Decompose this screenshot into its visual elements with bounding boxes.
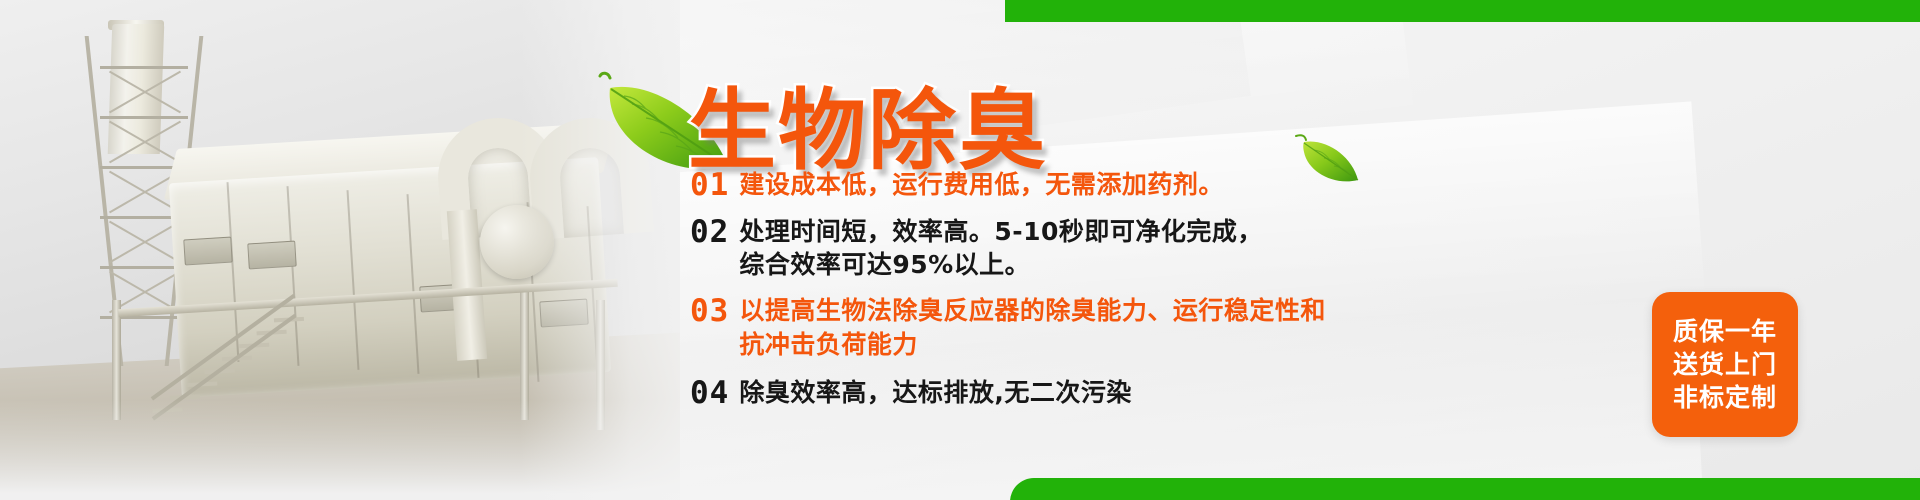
equipment-photo (0, 0, 680, 500)
feature-text-line: 综合效率可达95%以上。 (739, 248, 1263, 282)
stair-handrail (151, 294, 296, 401)
feature-text: 以提高生物法除臭反应器的除臭能力、运行稳定性和 抗冲击负荷能力 (739, 294, 1326, 362)
feature-text-line: 抗冲击负荷能力 (739, 328, 1326, 362)
feature-text: 处理时间短，效率高。5-10秒即可净化完成， 综合效率可达95%以上。 (739, 215, 1263, 283)
inspection-window (183, 237, 232, 266)
feature-number: 03 (690, 294, 729, 329)
feature-number: 02 (690, 215, 729, 250)
badge-line-customization: 非标定制 (1673, 381, 1777, 414)
feature-text-line: 处理时间短，效率高。5-10秒即可净化完成， (739, 217, 1263, 246)
tower-rung (100, 66, 188, 69)
list-item: 02 处理时间短，效率高。5-10秒即可净化完成， 综合效率可达95%以上。 (690, 215, 1590, 283)
feature-text-line: 除臭效率高，达标排放,无二次污染 (739, 378, 1132, 407)
promo-banner: 生物除臭 01 建设成本低，运行费用低，无需添加药剂。 02 处理时间短，效率高… (0, 0, 1920, 500)
feature-text-line: 以提高生物法除臭反应器的除臭能力、运行稳定性和 (739, 296, 1326, 325)
list-item: 04 除臭效率高，达标排放,无二次污染 (690, 376, 1590, 411)
list-item: 01 建设成本低，运行费用低，无需添加药剂。 (690, 168, 1590, 203)
feature-text-line: 建设成本低，运行费用低，无需添加药剂。 (739, 170, 1224, 199)
green-band-top (1005, 0, 1920, 22)
service-guarantee-badge: 质保一年 送货上门 非标定制 (1652, 292, 1798, 437)
feature-text: 建设成本低，运行费用低，无需添加药剂。 (739, 168, 1224, 202)
feature-list: 01 建设成本低，运行费用低，无需添加药剂。 02 处理时间短，效率高。5-10… (690, 168, 1590, 414)
feature-text: 除臭效率高，达标排放,无二次污染 (739, 376, 1132, 410)
green-band-bottom (1010, 478, 1920, 500)
list-item: 03 以提高生物法除臭反应器的除臭能力、运行稳定性和 抗冲击负荷能力 (690, 294, 1590, 362)
badge-line-delivery: 送货上门 (1673, 348, 1777, 381)
feature-number: 01 (690, 168, 729, 203)
tower-rung (100, 116, 188, 119)
inspection-window (247, 241, 296, 270)
feature-number: 04 (690, 376, 729, 411)
badge-line-warranty: 质保一年 (1673, 315, 1777, 348)
